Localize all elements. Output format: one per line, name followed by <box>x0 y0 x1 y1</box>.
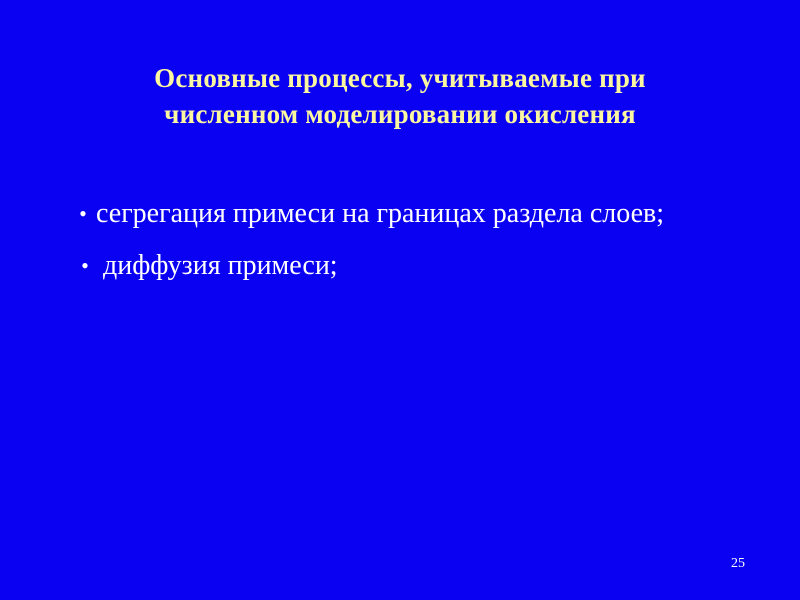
presentation-slide: Основные процессы, учитываемые при числе… <box>0 0 800 600</box>
slide-title: Основные процессы, учитываемые при числе… <box>60 60 740 132</box>
slide-body: • сегрегация примеси на границах раздела… <box>64 190 764 289</box>
bullet-point-icon: • <box>78 242 92 289</box>
title-line-2: численном моделировании окисления <box>60 96 740 132</box>
bullet-item-text: диффузия примеси; <box>96 242 764 289</box>
bullet-list-item: • диффузия примеси; <box>64 242 764 289</box>
slide-page-number: 25 <box>731 556 745 572</box>
bullet-list-item: • сегрегация примеси на границах раздела… <box>64 190 764 237</box>
bullet-item-text: сегрегация примеси на границах раздела с… <box>96 190 764 237</box>
bullet-point-icon: • <box>76 190 90 237</box>
title-line-1: Основные процессы, учитываемые при <box>60 60 740 96</box>
